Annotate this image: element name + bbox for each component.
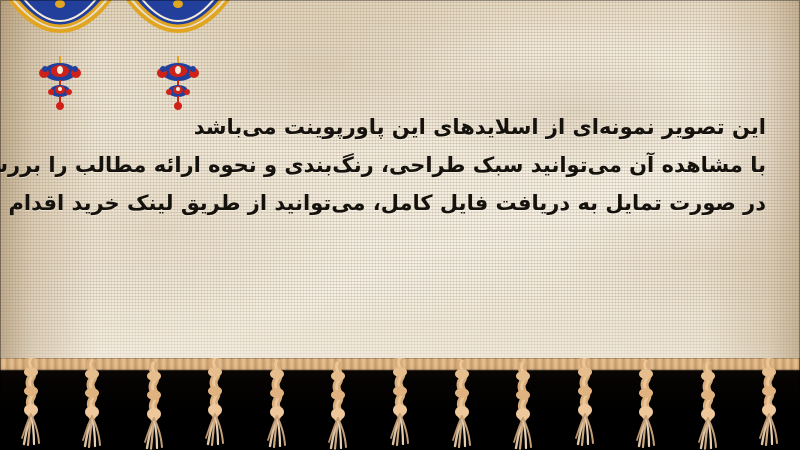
carpet-tassel bbox=[633, 360, 659, 448]
carpet-tassel bbox=[79, 360, 105, 448]
slide-canvas: این تصویر نمونه‌ای از اسلایدهای این پاور… bbox=[0, 0, 800, 450]
slide-text-line-1: این تصویر نمونه‌ای از اسلایدهای این پاور… bbox=[34, 108, 766, 146]
carpet-tassel bbox=[325, 362, 351, 450]
carpet-tassel bbox=[264, 360, 290, 448]
carpet-tassel bbox=[387, 358, 413, 446]
slide-text-block: این تصویر نمونه‌ای از اسلایدهای این پاور… bbox=[34, 108, 766, 222]
carpet-tassel bbox=[449, 360, 475, 448]
carpet-fringe-band bbox=[0, 358, 800, 450]
carpet-tassel bbox=[141, 362, 167, 450]
slide-text-line-3: در صورت تمایل به دریافت فایل کامل، می‌تو… bbox=[34, 184, 766, 222]
carpet-tassel bbox=[695, 362, 721, 450]
carpet-tassel bbox=[572, 358, 598, 446]
carpet-tassel bbox=[510, 362, 536, 450]
carpet-tassel bbox=[756, 358, 782, 446]
carpet-tassel bbox=[202, 358, 228, 446]
carpet-tassel bbox=[18, 358, 44, 446]
slide-text-line-2: با مشاهده آن می‌توانید سبک طراحی، رنگ‌بن… bbox=[34, 146, 766, 184]
